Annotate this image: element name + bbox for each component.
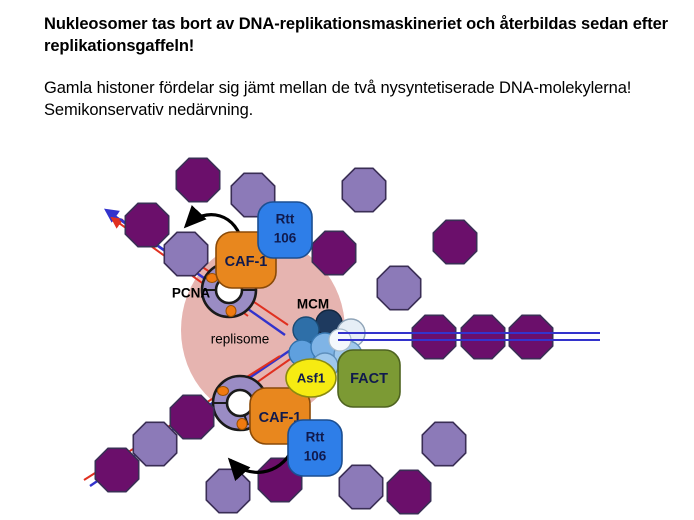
slide-subtext: Gamla histoner fördelar sig jämt mellan … [44,78,674,122]
strand-bottom-nucleosome-3 [95,448,138,491]
rtt106-top-label-line1: Rtt [276,212,295,227]
rtt106-bottom-label-line2: 106 [304,449,327,464]
rtt106-bottom-label-line1: Rtt [306,430,325,445]
rtt106-top-label-line2: 106 [274,231,297,246]
strand-right-nucleosome-1 [412,315,455,358]
caf1-top-label: CAF-1 [225,254,268,270]
pcna-dot [226,306,236,317]
free-nucleosome-10 [206,469,249,512]
asf1-label: Asf1 [297,370,325,385]
replication-nucleosome-diagram: CAF-1 Rtt 106 CAF-1 Rtt 106 [0,150,694,520]
replisome-label: replisome [211,332,270,347]
free-nucleosome-5 [433,220,476,263]
free-nucleosome-1 [176,158,219,201]
rtt106-top[interactable]: Rtt 106 [258,202,312,258]
free-nucleosome-4 [312,231,355,274]
rtt106-bottom[interactable]: Rtt 106 [288,420,342,476]
asf1[interactable]: Asf1 [286,359,336,397]
mcm-label: MCM [297,297,329,312]
pcna-dot [237,419,247,430]
slide-canvas: Nukleosomer tas bort av DNA-replikations… [0,0,694,520]
strand-bottom-nucleosome-2 [133,422,176,465]
slide-headline: Nukleosomer tas bort av DNA-replikations… [44,14,674,58]
strand-top-nucleosome-2 [164,232,207,275]
free-nucleosome-6 [377,266,420,309]
free-nucleosome-3 [342,168,385,211]
free-nucleosome-7 [422,422,465,465]
fact[interactable]: FACT [338,350,400,407]
strand-top-nucleosome-1 [125,203,168,246]
strand-right-nucleosome-3 [509,315,552,358]
strand-bottom-nucleosome-1 [170,395,213,438]
fact-label: FACT [350,371,388,387]
free-nucleosome-9 [387,470,430,513]
pcna-label: PCNA [172,286,211,301]
strand-right-nucleosome-2 [461,315,504,358]
pcna-dot [218,387,229,396]
free-nucleosome-8 [339,465,382,508]
